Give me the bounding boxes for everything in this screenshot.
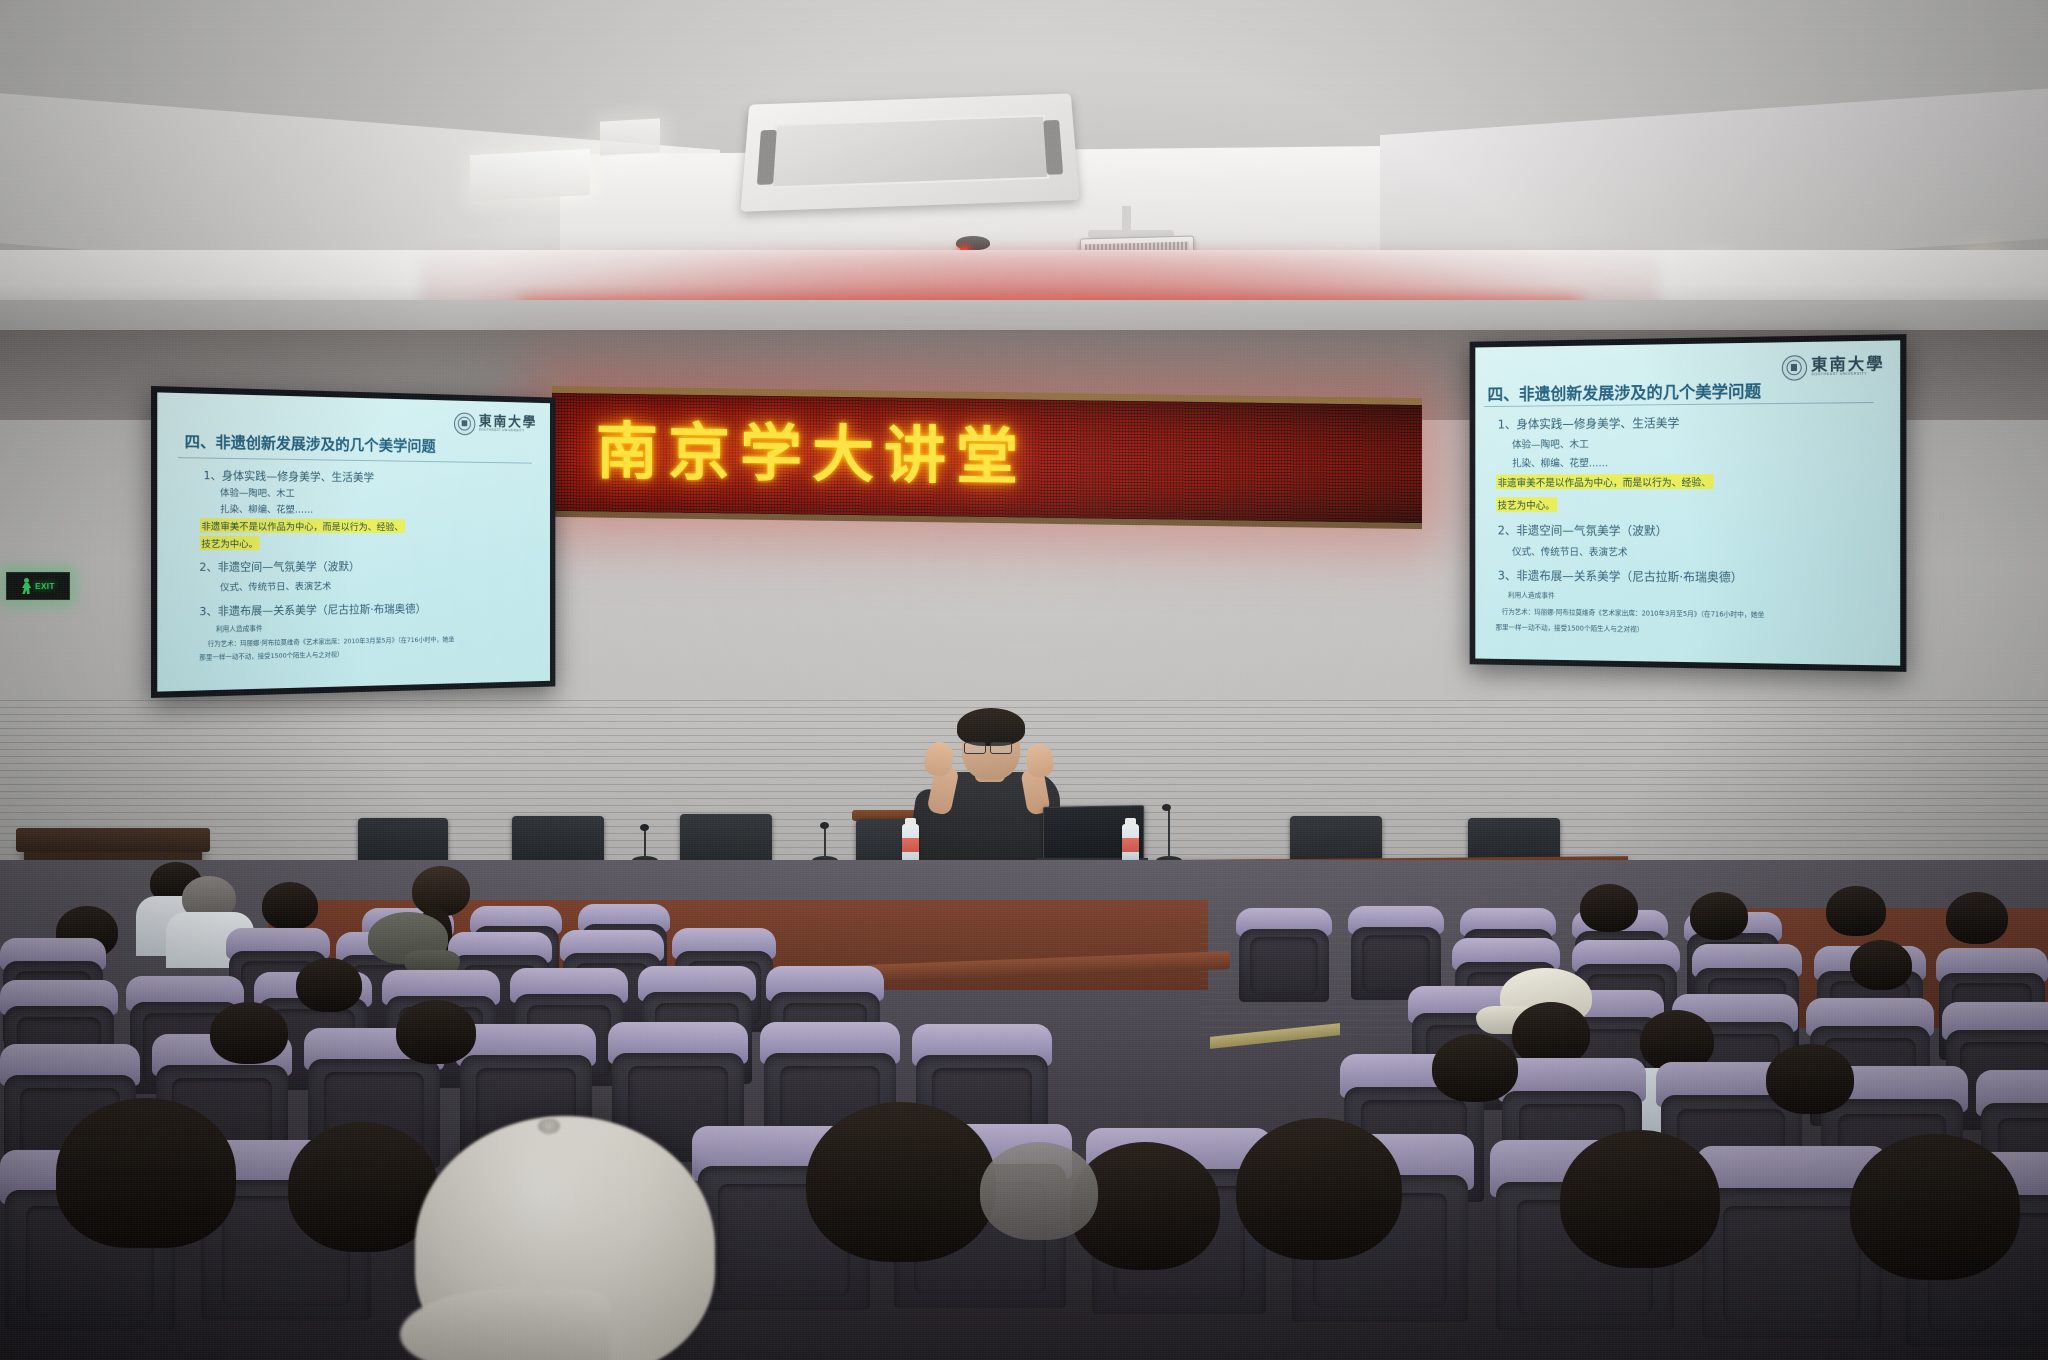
slide-right-line-9: 行为艺术：玛丽娜·阿布拉莫维奇《艺术家出席：2010年3月至5月》（在716小时…: [1502, 606, 1765, 619]
ceiling-panel-light-1: [470, 149, 590, 201]
attendee-head-3: [262, 882, 318, 930]
slide-left-line-7: 3、非遗布展—关系美学（尼古拉斯·布瑞奥德）: [199, 600, 426, 619]
foreground-head-6: [1560, 1130, 1720, 1268]
slide-right-line-0: 1、身体实践—修身美学、生活美学: [1498, 414, 1680, 432]
seat-a4[interactable]: [1236, 908, 1332, 1002]
slide-left-line-10: 那里一样一动不动，接受1500个陌生人与之对视）: [199, 649, 343, 661]
slide-right-logo-cn: 東南大學: [1811, 356, 1885, 373]
attendee-head-8: [1826, 886, 1886, 936]
projection-screen-left: 東南大學 SOUTHEAST UNIVERSITY 四、非遗创新发展涉及的几个美…: [151, 386, 555, 698]
microphone-3-neck: [1168, 808, 1170, 858]
slide-left-line-2: 扎染、柳编、花塑……: [220, 501, 313, 516]
emergency-exit-sign: EXIT: [6, 572, 70, 600]
water-bottle-left-cap: [905, 818, 916, 826]
stage-chair-3: [680, 814, 772, 862]
slide-left-line-0: 1、身体实践—修身美学、生活美学: [203, 466, 374, 484]
microphone-2-neck: [824, 826, 826, 858]
slide-right-line-1: 体验—陶吧、木工: [1512, 435, 1589, 450]
running-man-icon: [21, 578, 32, 594]
water-bottle-left-label: [902, 838, 919, 852]
slide-right-logo-en: SOUTHEAST UNIVERSITY: [1811, 373, 1885, 378]
microphone-3-head: [1162, 804, 1171, 811]
attendee-head-12: [1512, 1002, 1590, 1066]
ceiling-ac-cassette: [740, 93, 1079, 211]
slide-left-logo-en: SOUTHEAST UNIVERSITY: [479, 429, 537, 434]
speaker-glasses-right-lens: [990, 742, 1012, 754]
exit-sign-label: EXIT: [35, 582, 55, 591]
led-marquee-text: 南京学大讲堂: [596, 410, 1116, 501]
speaker-hair: [957, 708, 1025, 746]
attendee-head-14: [210, 1002, 288, 1064]
slide-left-title: 四、非遗创新发展涉及的几个美学问题: [185, 430, 436, 456]
slide-left-rule: [178, 457, 531, 464]
attendee-head-17: [1766, 1044, 1854, 1114]
slide-left-line-6: 仪式、传统节日、表演艺术: [220, 578, 331, 593]
foreground-head-8: [980, 1142, 1098, 1240]
stage-chair-2: [512, 816, 604, 864]
water-bottle-right-label: [1122, 838, 1139, 852]
slide-right-line-2: 扎染、柳编、花塑……: [1512, 454, 1608, 469]
projection-screen-right: 東南大學 SOUTHEAST UNIVERSITY 四、非遗创新发展涉及的几个美…: [1470, 334, 1907, 672]
screen-left-surface: 東南大學 SOUTHEAST UNIVERSITY 四、非遗创新发展涉及的几个美…: [157, 392, 550, 691]
screen-right-surface: 東南大學 SOUTHEAST UNIVERSITY 四、非遗创新发展涉及的几个美…: [1475, 340, 1900, 665]
attendee-head-7: [1690, 892, 1748, 940]
slide-right-line-3: 非遗审美不是以作品为中心，而是以行为、经验、: [1496, 474, 1714, 489]
attendee-head-9: [1946, 892, 2008, 944]
microphone-1-head: [640, 824, 649, 831]
foreground-head-1: [56, 1098, 236, 1248]
university-seal-icon-right: [1782, 355, 1807, 381]
attendee-head-10: [1850, 940, 1912, 990]
slide-left-line-3: 非遗审美不是以作品为中心，而是以行为、经验、: [199, 518, 405, 533]
foreground-head-5: [1236, 1118, 1402, 1260]
ac-grille: [771, 115, 1049, 189]
stage-chair-1: [358, 818, 448, 866]
slide-left-logo: 東南大學 SOUTHEAST UNIVERSITY: [454, 412, 537, 436]
ceiling-panel-light-2: [600, 118, 660, 155]
slide-right-title: 四、非遗创新发展涉及的几个美学问题: [1487, 378, 1761, 405]
slide-left: 東南大學 SOUTHEAST UNIVERSITY 四、非遗创新发展涉及的几个美…: [157, 392, 550, 691]
university-seal-icon: [454, 412, 475, 435]
slide-left-line-5: 2、非遗空间—气氛美学（波默）: [199, 558, 359, 575]
ac-vent-right: [1043, 120, 1063, 175]
foreground-head-7: [1850, 1134, 2020, 1280]
attendee-head-6: [1580, 884, 1638, 932]
attendee-head-15: [396, 1000, 476, 1064]
microphone-1-neck: [644, 828, 646, 858]
slide-right-line-10: 那里一样一动不动，接受1500个陌生人与之对视）: [1496, 621, 1644, 633]
foreground-cap-button: [538, 1118, 560, 1134]
slide-right-line-4: 技艺为中心。: [1496, 497, 1557, 512]
stage-chair-5: [1290, 816, 1382, 864]
attendee-head-11: [296, 958, 362, 1012]
water-bottle-right-cap: [1125, 818, 1136, 826]
microphone-2-head: [820, 822, 829, 829]
slide-right-line-6: 仪式、传统节日、表演艺术: [1512, 544, 1628, 559]
attendee-head-16: [1432, 1034, 1518, 1102]
slide-left-line-4: 技艺为中心。: [199, 536, 260, 550]
slide-right-line-7: 3、非遗布展—关系美学（尼古拉斯·布瑞奥德）: [1498, 567, 1743, 586]
speaker-glasses-left-lens: [964, 742, 986, 754]
slide-right: 東南大學 SOUTHEAST UNIVERSITY 四、非遗创新发展涉及的几个美…: [1475, 340, 1900, 665]
slide-left-line-1: 体验—陶吧、木工: [220, 484, 295, 499]
lectern-top: [16, 828, 210, 852]
lecture-hall-photo: 南京学大讲堂 EXIT 東南大學 SOUTHEAST UNIVERSITY 四、…: [0, 0, 2048, 1360]
led-marquee-sign: 南京学大讲堂: [552, 386, 1422, 529]
slide-left-line-9: 行为艺术：玛丽娜·阿布拉莫维奇《艺术家出席：2010年3月至5月》（在716小时…: [208, 634, 455, 648]
slide-right-logo: 東南大學 SOUTHEAST UNIVERSITY: [1782, 354, 1885, 381]
foreground-head-3: [806, 1102, 996, 1262]
slide-right-line-5: 2、非遗空间—气氛美学（波默）: [1498, 522, 1668, 539]
slide-right-line-8: 利用人造成事件: [1508, 590, 1555, 600]
slide-left-line-8: 利用人造成事件: [216, 623, 263, 634]
